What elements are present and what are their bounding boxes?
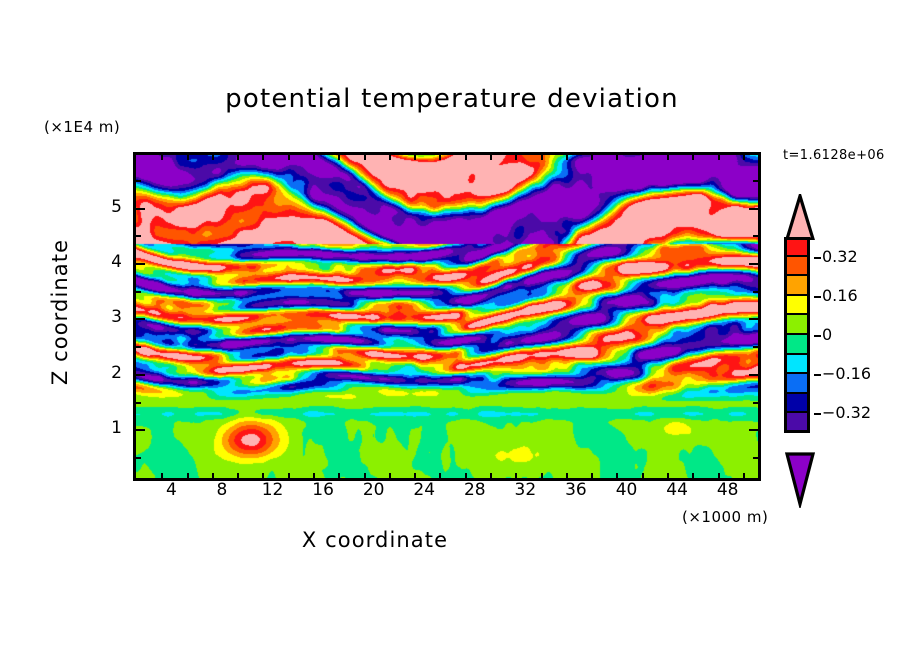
x-tick-label: 4 [151, 480, 191, 500]
colorbar-band [784, 257, 810, 277]
axis-tickmark [136, 208, 145, 210]
axis-tickmark [753, 346, 758, 348]
colorbar-over-triangle-icon [778, 194, 824, 240]
x-tick-label: 12 [253, 480, 293, 500]
colorbar: 0.320.160−0.16−0.32 [778, 194, 898, 524]
axis-tickmark [692, 473, 694, 478]
axis-tickmark [743, 473, 745, 478]
colorbar-band [784, 296, 810, 316]
colorbar-band [784, 413, 810, 433]
axis-tickmark [414, 155, 416, 160]
colorbar-band [784, 394, 810, 414]
axis-tickmark [743, 155, 745, 160]
axis-tickmark [262, 473, 264, 478]
axis-tickmark [749, 263, 758, 265]
colorbar-tick-label: 0.16 [822, 286, 858, 305]
x-tick-label: 36 [556, 480, 596, 500]
y-tick-label: 4 [96, 252, 122, 272]
y-axis-unit-label: (×1E4 m) [44, 118, 120, 136]
axis-tickmark [749, 374, 758, 376]
axis-tickmark [642, 473, 644, 478]
axis-tickmark [389, 155, 391, 160]
colorbar-tick-label: 0.32 [822, 247, 858, 266]
axis-tickmark [136, 457, 141, 459]
y-tick-label: 5 [96, 197, 122, 217]
colorbar-band [784, 335, 810, 355]
colorbar-tick-label: 0 [822, 325, 832, 344]
axis-tickmark [753, 180, 758, 182]
colorbar-under-triangle-icon [778, 452, 824, 508]
colorbar-tick-label: −0.16 [822, 364, 871, 383]
x-tick-label: 8 [202, 480, 242, 500]
colorbar-band [784, 355, 810, 375]
axis-tickmark [515, 155, 517, 160]
axis-tickmark [667, 473, 669, 478]
axis-tickmark [212, 473, 214, 478]
time-stamp-label: t=1.6128e+06 [783, 148, 885, 163]
axis-tickmark [566, 155, 568, 160]
y-tick-label: 3 [96, 307, 122, 327]
axis-tickmark [749, 208, 758, 210]
colorbar-band [784, 315, 810, 335]
axis-tickmark [616, 473, 618, 478]
colorbar-tickmark [814, 335, 821, 337]
colorbar-tickmark [814, 296, 821, 298]
contour-field-canvas [136, 155, 758, 478]
axis-tickmark [313, 155, 315, 160]
axis-tickmark [749, 429, 758, 431]
colorbar-band [784, 374, 810, 394]
axis-tickmark [515, 473, 517, 478]
x-axis-title: X coordinate [0, 528, 750, 552]
axis-tickmark [465, 155, 467, 160]
axis-tickmark [237, 155, 239, 160]
colorbar-tickmark [814, 374, 821, 376]
axis-tickmark [753, 457, 758, 459]
axis-tickmark [136, 374, 145, 376]
y-axis-title: Z coordinate [48, 192, 72, 432]
x-axis-unit-label: (×1000 m) [682, 508, 768, 526]
axis-tickmark [414, 473, 416, 478]
axis-tickmark [136, 263, 145, 265]
colorbar-band [784, 237, 810, 257]
axis-tickmark [541, 473, 543, 478]
axis-tickmark [749, 318, 758, 320]
axis-tickmark [187, 155, 189, 160]
axis-tickmark [313, 473, 315, 478]
axis-tickmark [288, 473, 290, 478]
axis-tickmark [338, 473, 340, 478]
x-tick-label: 24 [404, 480, 444, 500]
axis-tickmark [566, 473, 568, 478]
axis-tickmark [161, 473, 163, 478]
axis-tickmark [136, 429, 145, 431]
axis-tickmark [591, 473, 593, 478]
axis-tickmark [136, 180, 141, 182]
axis-tickmark [490, 473, 492, 478]
axis-tickmark [718, 155, 720, 160]
axis-tickmark [692, 155, 694, 160]
axis-tickmark [136, 402, 141, 404]
axis-tickmark [541, 155, 543, 160]
axis-tickmark [753, 235, 758, 237]
axis-tickmark [642, 155, 644, 160]
axis-tickmark [439, 473, 441, 478]
axis-tickmark [753, 291, 758, 293]
x-tick-label: 32 [505, 480, 545, 500]
x-tick-label: 40 [607, 480, 647, 500]
y-tick-label: 2 [96, 363, 122, 383]
page-title: potential temperature deviation [0, 84, 904, 114]
axis-tickmark [136, 318, 145, 320]
colorbar-tickmark [814, 413, 821, 415]
x-tick-label: 48 [708, 480, 748, 500]
y-tick-label: 1 [96, 418, 122, 438]
x-tick-label: 20 [354, 480, 394, 500]
axis-tickmark [338, 155, 340, 160]
axis-tickmark [490, 155, 492, 160]
axis-tickmark [753, 402, 758, 404]
axis-tickmark [616, 155, 618, 160]
colorbar-band [784, 276, 810, 296]
axis-tickmark [667, 155, 669, 160]
axis-tickmark [136, 346, 141, 348]
axis-tickmark [136, 291, 141, 293]
axis-tickmark [187, 473, 189, 478]
axis-tickmark [718, 473, 720, 478]
x-tick-label: 44 [657, 480, 697, 500]
x-tick-label: 16 [303, 480, 343, 500]
axis-tickmark [161, 155, 163, 160]
axis-tickmark [288, 155, 290, 160]
axis-tickmark [465, 473, 467, 478]
axis-tickmark [389, 473, 391, 478]
axis-tickmark [591, 155, 593, 160]
figure-root: potential temperature deviation (×1E4 m)… [0, 0, 904, 654]
x-tick-label: 28 [455, 480, 495, 500]
axis-tickmark [212, 155, 214, 160]
axis-tickmark [439, 155, 441, 160]
colorbar-tick-label: −0.32 [822, 403, 871, 422]
axis-tickmark [364, 473, 366, 478]
colorbar-tickmark [814, 257, 821, 259]
axis-tickmark [364, 155, 366, 160]
axis-tickmark [136, 235, 141, 237]
contour-plot-area [133, 152, 761, 481]
axis-tickmark [262, 155, 264, 160]
axis-tickmark [237, 473, 239, 478]
